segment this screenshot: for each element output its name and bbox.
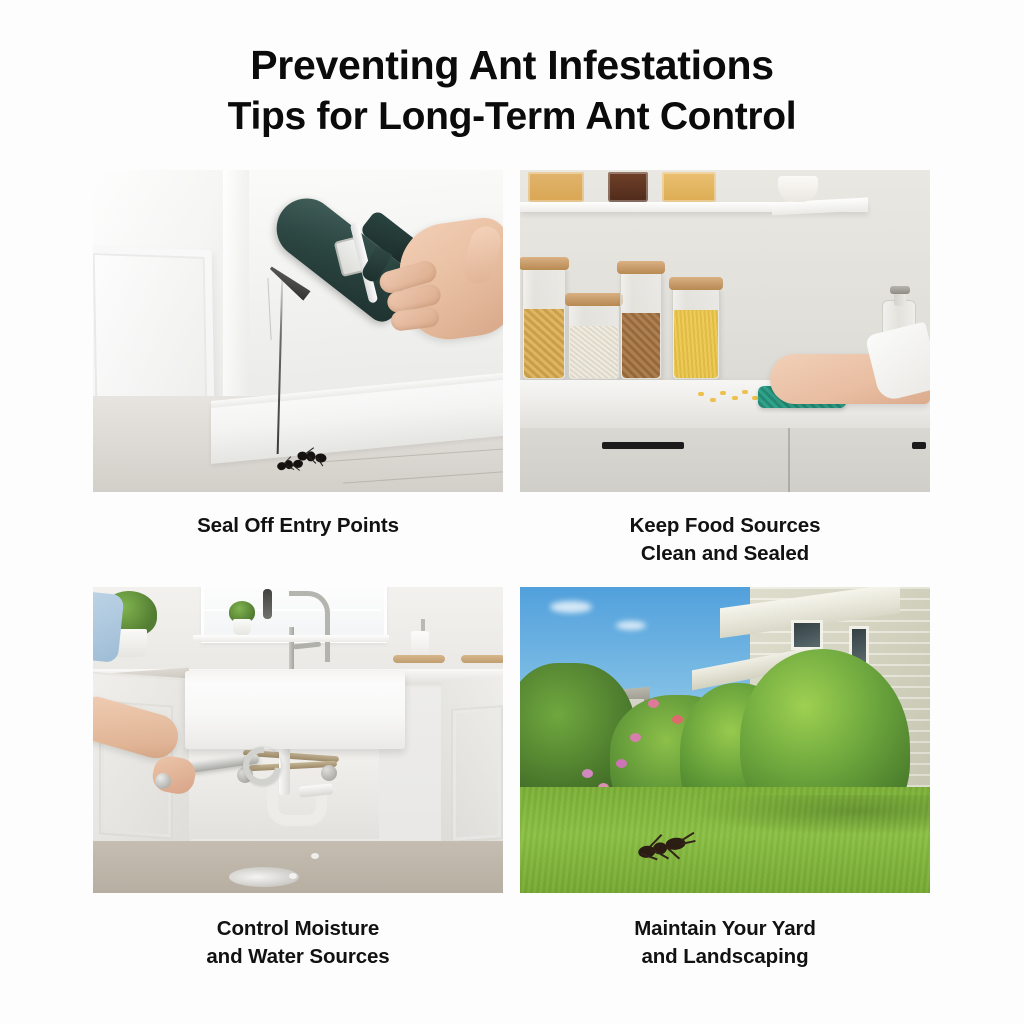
floor-surface (93, 841, 503, 893)
windowsill (193, 635, 389, 642)
caption-line-1: Keep Food Sources (520, 512, 930, 540)
cloud (616, 621, 646, 630)
caption-line-1: Control Moisture (93, 915, 503, 943)
flower (582, 769, 593, 778)
caption-seal-entry-points: Seal Off Entry Points (93, 512, 503, 540)
lower-cabinets (520, 428, 930, 492)
upper-jar-dark-grain (608, 172, 648, 202)
water-drip (311, 853, 319, 859)
photo-control-moisture (93, 587, 503, 893)
sink-sprayer (263, 589, 272, 619)
upper-shelf-bowl (778, 176, 818, 202)
door-edge (223, 170, 249, 426)
cabinet-panel-inset (453, 707, 501, 840)
faucet-stem (289, 627, 294, 671)
flower (672, 715, 683, 724)
panel-seal-entry-points: Seal Off Entry Points (93, 170, 503, 540)
lawn-shadow (690, 795, 930, 835)
sink-rim (185, 671, 405, 685)
drawer-handle (602, 442, 684, 449)
caption-line-2: Clean and Sealed (520, 540, 930, 568)
flower (648, 699, 659, 708)
panel-control-moisture: Control Moisture and Water Sources (93, 587, 503, 971)
caption-line-2: and Landscaping (520, 943, 930, 971)
cabinet-seam (788, 428, 790, 492)
caption-line-2: and Water Sources (93, 943, 503, 971)
wooden-tray (393, 655, 445, 663)
soap-pump (421, 619, 425, 631)
storage-jar-corn (522, 268, 566, 380)
caption-maintain-yard: Maintain Your Yard and Landscaping (520, 915, 930, 971)
drawer-handle (912, 442, 926, 449)
water-drip (289, 873, 297, 879)
page-title: Preventing Ant Infestations Tips for Lon… (0, 40, 1024, 142)
photo-keep-food-sealed (520, 170, 930, 492)
storage-jar-cereal (620, 272, 662, 380)
bamboo-lid (520, 257, 569, 270)
storage-jar-rice (568, 304, 620, 380)
wooden-tray (461, 655, 503, 663)
plant-pot (233, 619, 251, 635)
wrench-end-cap (155, 773, 171, 789)
caption-line-1: Maintain Your Yard (520, 915, 930, 943)
bamboo-lid (565, 293, 623, 306)
bottle-cap (890, 286, 910, 294)
photo-seal-entry-points (93, 170, 503, 492)
upper-jar-pasta (662, 172, 716, 202)
bamboo-lid (669, 277, 723, 290)
panel-maintain-yard: Maintain Your Yard and Landscaping (520, 587, 930, 971)
faucet-arc (289, 591, 330, 662)
door-inset-molding (93, 246, 214, 417)
title-line-1: Preventing Ant Infestations (0, 40, 1024, 90)
infographic-root: Preventing Ant Infestations Tips for Lon… (0, 0, 1024, 1024)
caption-line-1: Seal Off Entry Points (93, 512, 503, 540)
house-window-upper (794, 623, 820, 647)
title-line-2: Tips for Long-Term Ant Control (0, 92, 1024, 142)
bamboo-lid (617, 261, 665, 274)
panel-keep-food-sealed: Keep Food Sources Clean and Sealed (520, 170, 930, 568)
panel-grid: Seal Off Entry Points (93, 170, 932, 994)
storage-jar-spaghetti (672, 288, 720, 380)
flower (616, 759, 627, 768)
photo-maintain-yard (520, 587, 930, 893)
cloud (550, 601, 592, 613)
flower (630, 733, 641, 742)
caption-keep-food-sealed: Keep Food Sources Clean and Sealed (520, 512, 930, 568)
soap-dispenser (411, 631, 429, 657)
shutoff-valve (321, 765, 337, 781)
caption-control-moisture: Control Moisture and Water Sources (93, 915, 503, 971)
upper-jar-corn (528, 172, 584, 202)
